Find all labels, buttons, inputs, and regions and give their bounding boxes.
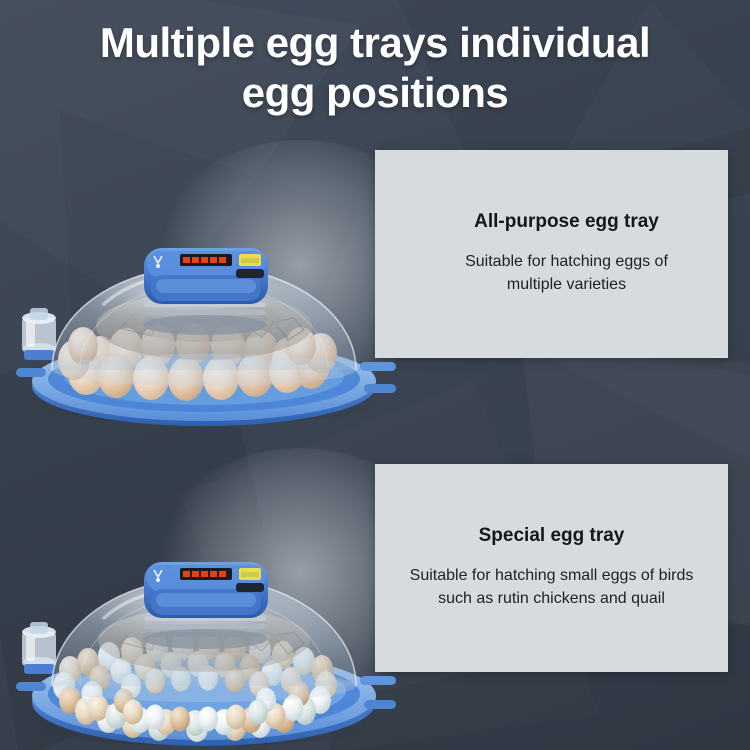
control-button[interactable] [236,269,264,278]
indicator-sticker-band [241,258,259,263]
indicator-sticker-band [241,572,259,577]
card-body-line-2: multiple varieties [419,273,714,296]
side-vent-icon [16,368,46,377]
heater-fan-stack [143,616,267,649]
card-body-line-1: Suitable for hatching small eggs of bird… [389,564,714,587]
water-fill-cap-icon [22,622,56,674]
led-display-icon [180,254,232,266]
control-unit [144,248,268,304]
card-heading: Special egg tray [389,525,714,548]
card-heading: All-purpose egg tray [419,211,714,234]
heater-fan-stack [143,302,267,335]
page-title: Multiple egg trays individual egg positi… [0,18,750,119]
product-image-special-incubator [8,520,408,750]
water-fill-cap-icon [22,308,56,360]
card-body-line-1: Suitable for hatching eggs of [419,250,714,273]
product-marketing-image: Multiple egg trays individual egg positi… [0,0,750,750]
led-display-icon [180,568,232,580]
product-image-all-purpose-incubator [8,218,408,428]
info-card-special: Special egg tray Suitable for hatching s… [375,464,728,672]
control-unit [144,562,268,618]
page-title-line-1: Multiple egg trays individual [28,18,722,68]
control-button[interactable] [236,583,264,592]
side-vent-icon [16,682,46,691]
page-title-line-2: egg positions [28,68,722,118]
card-body-line-2: such as rutin chickens and quail [389,587,714,610]
info-card-all-purpose: All-purpose egg tray Suitable for hatchi… [375,150,728,358]
